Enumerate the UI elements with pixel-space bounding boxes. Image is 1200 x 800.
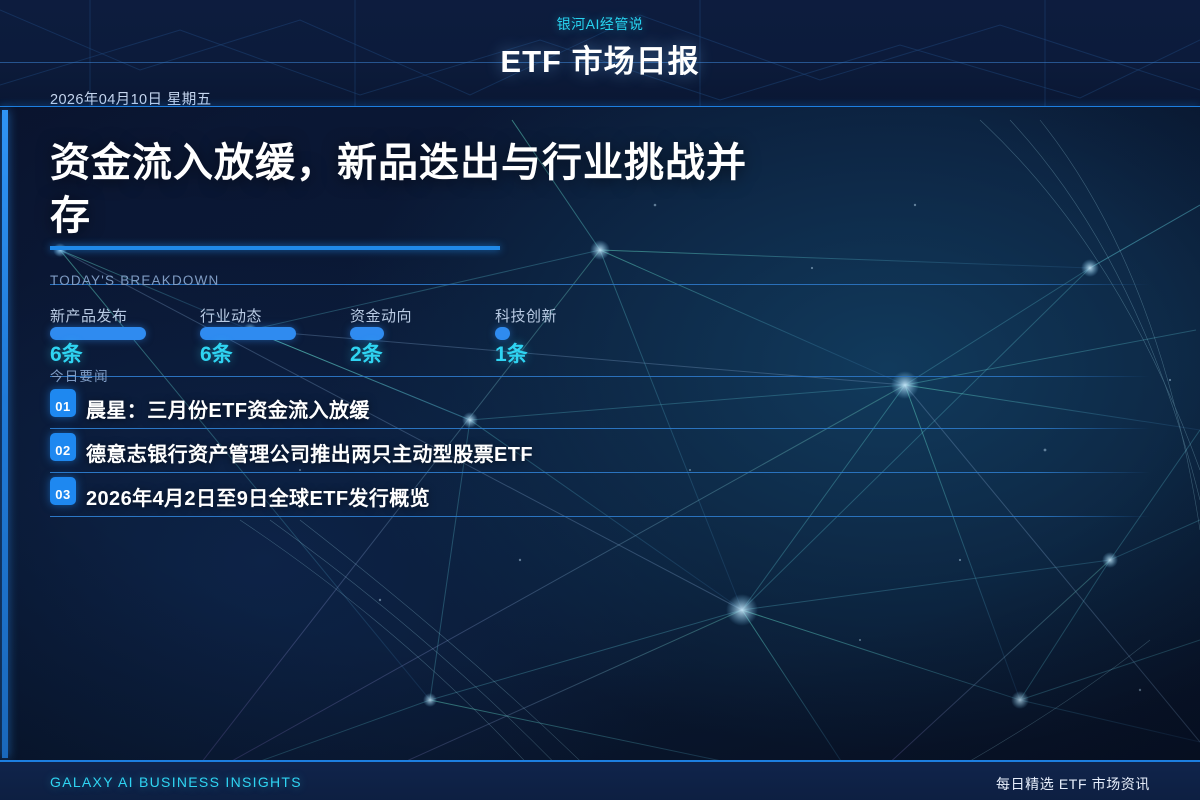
stat-item-new-products: 新产品发布 6条 bbox=[50, 305, 190, 368]
news-section-header: 今日要闻 bbox=[50, 365, 1150, 383]
report-body: 资金流入放缓，新品迭出与行业挑战并存 TODAY'S BREAKDOWN 新产品… bbox=[0, 107, 1200, 760]
stat-label: 资金动向 bbox=[350, 305, 490, 326]
news-item-divider bbox=[50, 428, 1150, 429]
headline-underline bbox=[50, 246, 500, 250]
news-label: 今日要闻 bbox=[50, 365, 109, 385]
footer-tagline: 每日精选 ETF 市场资讯 bbox=[996, 774, 1150, 794]
stat-label: 新产品发布 bbox=[50, 305, 190, 326]
news-rule bbox=[50, 376, 1150, 377]
news-headline[interactable]: 晨星：三月份ETF资金流入放缓 bbox=[86, 394, 370, 423]
stat-label: 科技创新 bbox=[495, 305, 635, 326]
stat-item-industry-trends: 行业动态 6条 bbox=[200, 305, 340, 368]
stat-count: 2条 bbox=[350, 338, 490, 368]
news-list-item[interactable]: 03 2026年4月2日至9日全球ETF发行概览 bbox=[50, 477, 1150, 521]
news-item-divider bbox=[50, 516, 1150, 517]
report-footer: GALAXY AI BUSINESS INSIGHTS 每日精选 ETF 市场资… bbox=[0, 760, 1200, 800]
news-headline[interactable]: 德意志银行资产管理公司推出两只主动型股票ETF bbox=[86, 438, 533, 467]
page-title: ETF 市场日报 bbox=[0, 36, 1200, 81]
news-headline[interactable]: 2026年4月2日至9日全球ETF发行概览 bbox=[86, 482, 430, 511]
breakdown-section-header: TODAY'S BREAKDOWN bbox=[50, 273, 1150, 291]
footer-brand: GALAXY AI BUSINESS INSIGHTS bbox=[50, 774, 302, 790]
report-header: 银河AI经管说 ETF 市场日报 2026年04月10日 星期五 bbox=[0, 0, 1200, 107]
news-list-item[interactable]: 02 德意志银行资产管理公司推出两只主动型股票ETF bbox=[50, 433, 1150, 477]
stat-count: 6条 bbox=[50, 338, 190, 368]
stat-count: 6条 bbox=[200, 338, 340, 368]
breakdown-label: TODAY'S BREAKDOWN bbox=[50, 273, 220, 288]
news-index-number: 02 bbox=[50, 443, 76, 458]
brand-eyebrow: 银河AI经管说 bbox=[0, 14, 1200, 34]
stat-item-fund-flows: 资金动向 2条 bbox=[350, 305, 490, 368]
stat-label: 行业动态 bbox=[200, 305, 340, 326]
stat-item-tech-innovation: 科技创新 1条 bbox=[495, 305, 635, 368]
news-list: 01 晨星：三月份ETF资金流入放缓 02 德意志银行资产管理公司推出两只主动型… bbox=[50, 389, 1150, 521]
news-index-number: 01 bbox=[50, 399, 76, 414]
etf-daily-report-slide: 银河AI经管说 ETF 市场日报 2026年04月10日 星期五 资金流入放缓，… bbox=[0, 0, 1200, 800]
news-list-item[interactable]: 01 晨星：三月份ETF资金流入放缓 bbox=[50, 389, 1150, 433]
headline: 资金流入放缓，新品迭出与行业挑战并存 bbox=[50, 137, 750, 243]
news-item-divider bbox=[50, 472, 1150, 473]
news-index-number: 03 bbox=[50, 487, 76, 502]
report-date: 2026年04月10日 星期五 bbox=[50, 88, 212, 107]
stat-count: 1条 bbox=[495, 338, 635, 368]
